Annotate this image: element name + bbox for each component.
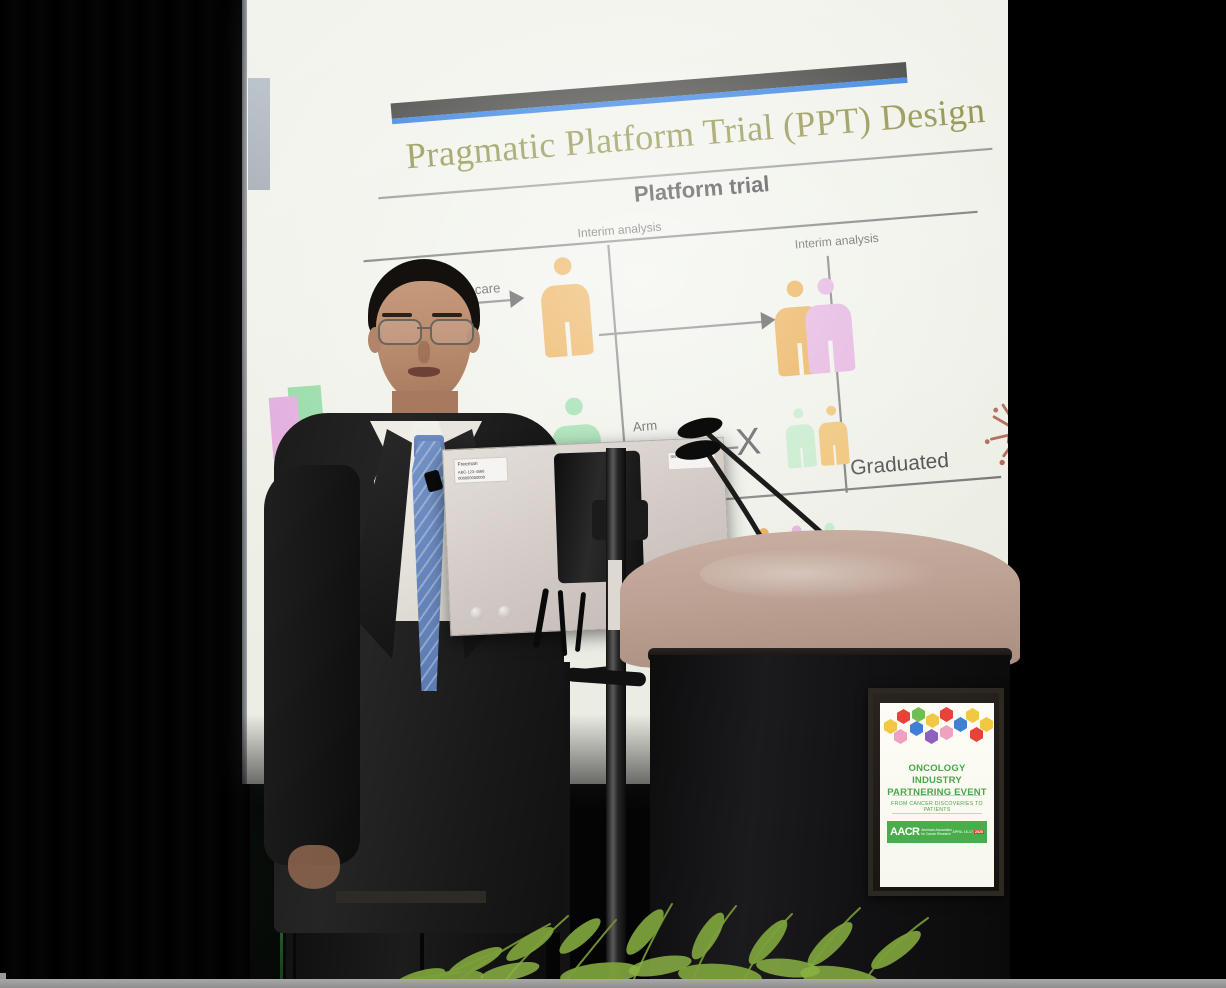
poster-date-badge: 2025: [974, 830, 984, 834]
person-figure-stage2-new-arm: [802, 276, 856, 374]
interim-analysis-label-2: Interim analysis: [794, 232, 879, 252]
monitor-asset-tag: Freeman ABC-123-4568 000000000000: [453, 457, 508, 484]
photo-scene: Pragmatic Platform Trial (PPT) Design Pl…: [0, 0, 1226, 988]
aacr-logo-text: AACR: [890, 826, 919, 838]
poster-divider-bottom: [892, 813, 982, 814]
dark-right-wall: [1008, 0, 1226, 988]
speaker-brow-left: [382, 313, 412, 317]
image-bottom-border: [0, 979, 1226, 988]
monitor-power-button[interactable]: [470, 607, 484, 621]
event-poster: ONCOLOGY INDUSTRY PARTNERING EVENT FROM …: [880, 703, 994, 887]
podium-top-highlight: [700, 548, 940, 600]
image-bottom-left-notch: [0, 973, 6, 979]
poster-hex-decoration: [880, 705, 994, 749]
speaker-arm-left: [264, 465, 360, 865]
glasses-lens-right-icon: [430, 319, 474, 345]
poster-title-line2: PARTNERING EVENT: [886, 787, 988, 799]
aacr-tagline: American Association for Cancer Research: [921, 828, 951, 836]
arm-dropped-label-line1: Arm: [632, 418, 657, 435]
diagram-heading: Platform trial: [633, 172, 770, 208]
poster-date: APRIL 16-17,2025: [953, 830, 984, 834]
glasses-bridge-icon: [417, 327, 431, 329]
aacr-logo-band: AACR American Association for Cancer Res…: [887, 821, 987, 843]
interim-analysis-divider-1: [607, 245, 626, 460]
aacr-tagline-line2: for Cancer Research: [921, 832, 950, 836]
speaker-brow-right: [432, 313, 462, 317]
speaker-nose: [418, 341, 430, 363]
poster-title-line1: ONCOLOGY INDUSTRY: [886, 763, 988, 787]
stage-curtain-left: [0, 0, 250, 988]
poster-subtitle: FROM CANCER DISCOVERIES TO PATIENTS: [886, 801, 988, 813]
poster-divider-top: [892, 795, 982, 796]
fern-foliage: [300, 880, 960, 988]
firework-burst-icon: [969, 378, 1010, 480]
poster-title: ONCOLOGY INDUSTRY PARTNERING EVENT: [886, 763, 988, 799]
monitor-menu-button[interactable]: [498, 606, 512, 620]
podium-poster-frame: ONCOLOGY INDUSTRY PARTNERING EVENT FROM …: [868, 688, 1004, 896]
speaker-mouth: [408, 367, 440, 377]
poster-date-text: APRIL 16-17,: [953, 830, 974, 834]
continue-line: [599, 321, 764, 336]
glasses-lens-left-icon: [378, 319, 422, 345]
stage-ferns: [300, 880, 960, 988]
